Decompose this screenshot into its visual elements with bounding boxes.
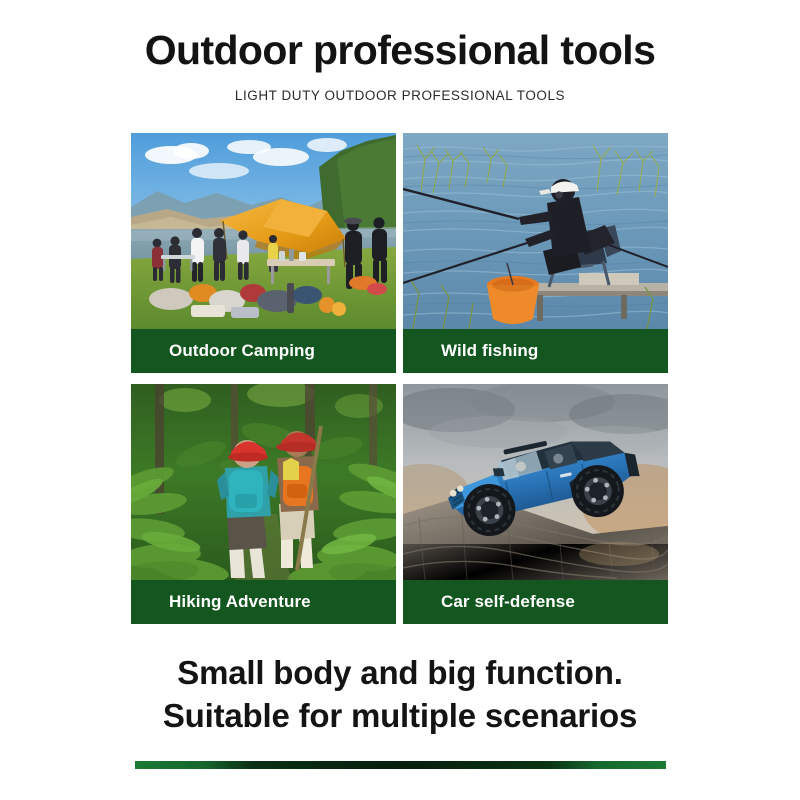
fishing-caption-bar: Wild fishing [403,329,668,373]
caption-label: Wild fishing [441,341,538,361]
hiking-photo [131,384,396,580]
caption-label: Hiking Adventure [169,592,311,612]
scenario-card-outdoor-camping[interactable]: Outdoor Camping [131,133,396,373]
scenario-grid: Outdoor Camping [131,133,668,624]
footer-divider-bar [135,761,666,769]
car-caption-bar: Car self-defense [403,580,668,624]
hiking-caption-bar: Hiking Adventure [131,580,396,624]
caption-label: Car self-defense [441,592,575,612]
page-title: Outdoor professional tools [0,28,800,72]
footer-heading-line-1: Small body and big function. [0,652,800,695]
page-header: Outdoor professional tools LIGHT DUTY OU… [0,0,800,103]
scenario-card-car-self-defense[interactable]: Car self-defense [403,384,668,624]
footer-heading-line-2: Suitable for multiple scenarios [0,695,800,738]
offroad-car-photo [403,384,668,580]
camping-caption-bar: Outdoor Camping [131,329,396,373]
fishing-photo [403,133,668,329]
camping-photo [131,133,396,329]
scenario-card-wild-fishing[interactable]: Wild fishing [403,133,668,373]
page-subtitle: LIGHT DUTY OUTDOOR PROFESSIONAL TOOLS [0,88,800,103]
caption-label: Outdoor Camping [169,341,315,361]
scenario-card-hiking-adventure[interactable]: Hiking Adventure [131,384,396,624]
footer-heading: Small body and big function. Suitable fo… [0,652,800,738]
product-banner-page: Outdoor professional tools LIGHT DUTY OU… [0,0,800,800]
